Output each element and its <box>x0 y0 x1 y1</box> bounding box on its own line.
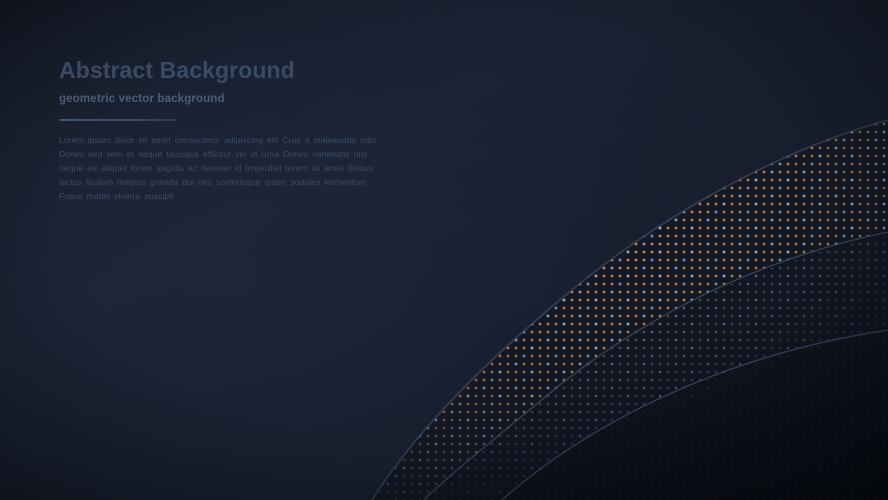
abstract-background-canvas: Abstract Background geometric vector bac… <box>0 0 888 500</box>
vignette-overlay <box>0 0 888 500</box>
artwork-layer <box>0 0 888 500</box>
